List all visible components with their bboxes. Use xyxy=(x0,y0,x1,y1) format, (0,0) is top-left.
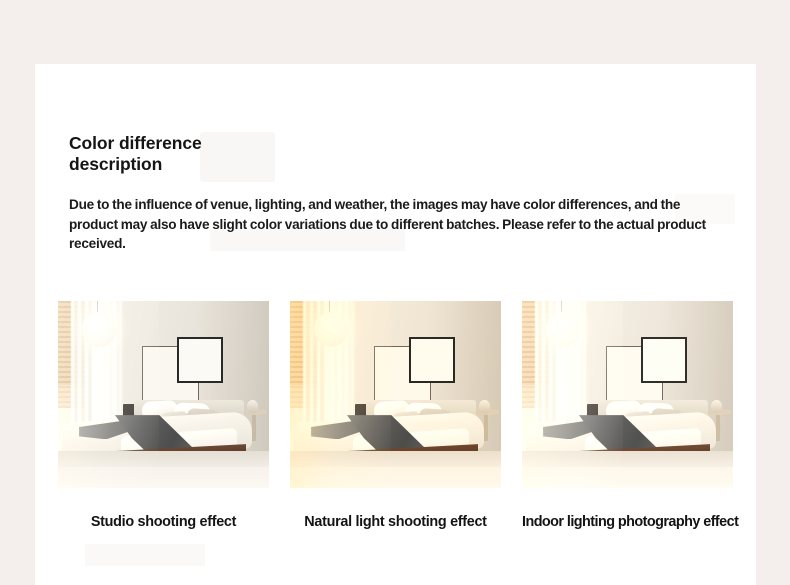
wall-frame-small xyxy=(177,337,223,383)
bedroom-scene-indoor-lighting xyxy=(522,301,733,488)
bedroom-photo-studio[interactable] xyxy=(58,301,269,488)
page-title-line-1: Color difference xyxy=(69,133,202,153)
rug xyxy=(522,467,733,488)
side-table-leg xyxy=(252,415,256,441)
bedroom-scene-studio xyxy=(58,301,269,488)
side-table-leg xyxy=(716,415,720,441)
paper-lantern-lamp-icon xyxy=(314,312,348,347)
gallery-item: Indoor lighting photography effect xyxy=(522,301,733,530)
capture-artifact xyxy=(85,544,205,566)
gallery-caption: Indoor lighting photography effect xyxy=(522,514,733,530)
vase xyxy=(479,400,491,413)
vase xyxy=(711,400,723,413)
page-title: Color difference description xyxy=(69,133,369,175)
paper-lantern-lamp-icon xyxy=(82,312,116,347)
gallery-item: Natural light shooting effect xyxy=(290,301,501,530)
comparison-gallery: Studio shooting effect xyxy=(58,301,733,530)
color-difference-description: Due to the influence of venue, lighting,… xyxy=(69,195,725,254)
wall-frame-small xyxy=(641,337,687,383)
rug xyxy=(58,467,269,488)
gallery-caption: Studio shooting effect xyxy=(58,514,269,530)
bedroom-photo-natural-light[interactable] xyxy=(290,301,501,488)
rug xyxy=(290,467,501,488)
paper-lantern-lamp-icon xyxy=(546,312,580,347)
page-root: Color difference description Due to the … xyxy=(0,0,790,585)
vase xyxy=(247,400,259,413)
gallery-item: Studio shooting effect xyxy=(58,301,269,530)
page-title-line-2: description xyxy=(69,154,162,174)
wall-frame-small xyxy=(409,337,455,383)
bedroom-scene-natural-light xyxy=(290,301,501,488)
bedroom-photo-indoor-lighting[interactable] xyxy=(522,301,733,488)
content-card: Color difference description Due to the … xyxy=(35,64,756,585)
side-table-leg xyxy=(484,415,488,441)
gallery-caption: Natural light shooting effect xyxy=(290,514,501,530)
